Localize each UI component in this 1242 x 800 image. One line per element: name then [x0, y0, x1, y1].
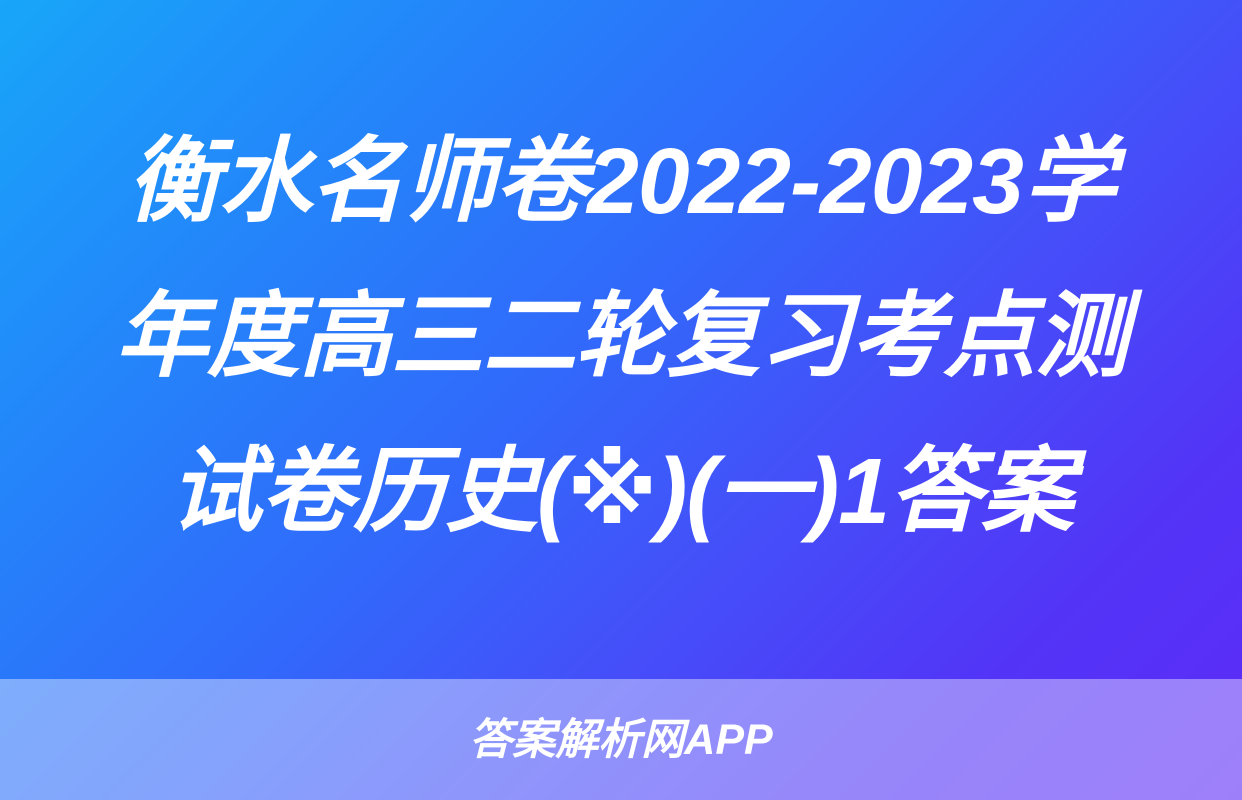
page-title: 衡水名师卷2022-2023学年度高三二轮复习考点测试卷历史(※)(一)1答案: [103, 104, 1139, 569]
watermark-app-label: 答案解析网APP: [469, 719, 772, 762]
poster-canvas: 衡水名师卷2022-2023学年度高三二轮复习考点测试卷历史(※)(一)1答案 …: [0, 0, 1242, 800]
watermark-band: 答案解析网APP: [0, 679, 1242, 800]
